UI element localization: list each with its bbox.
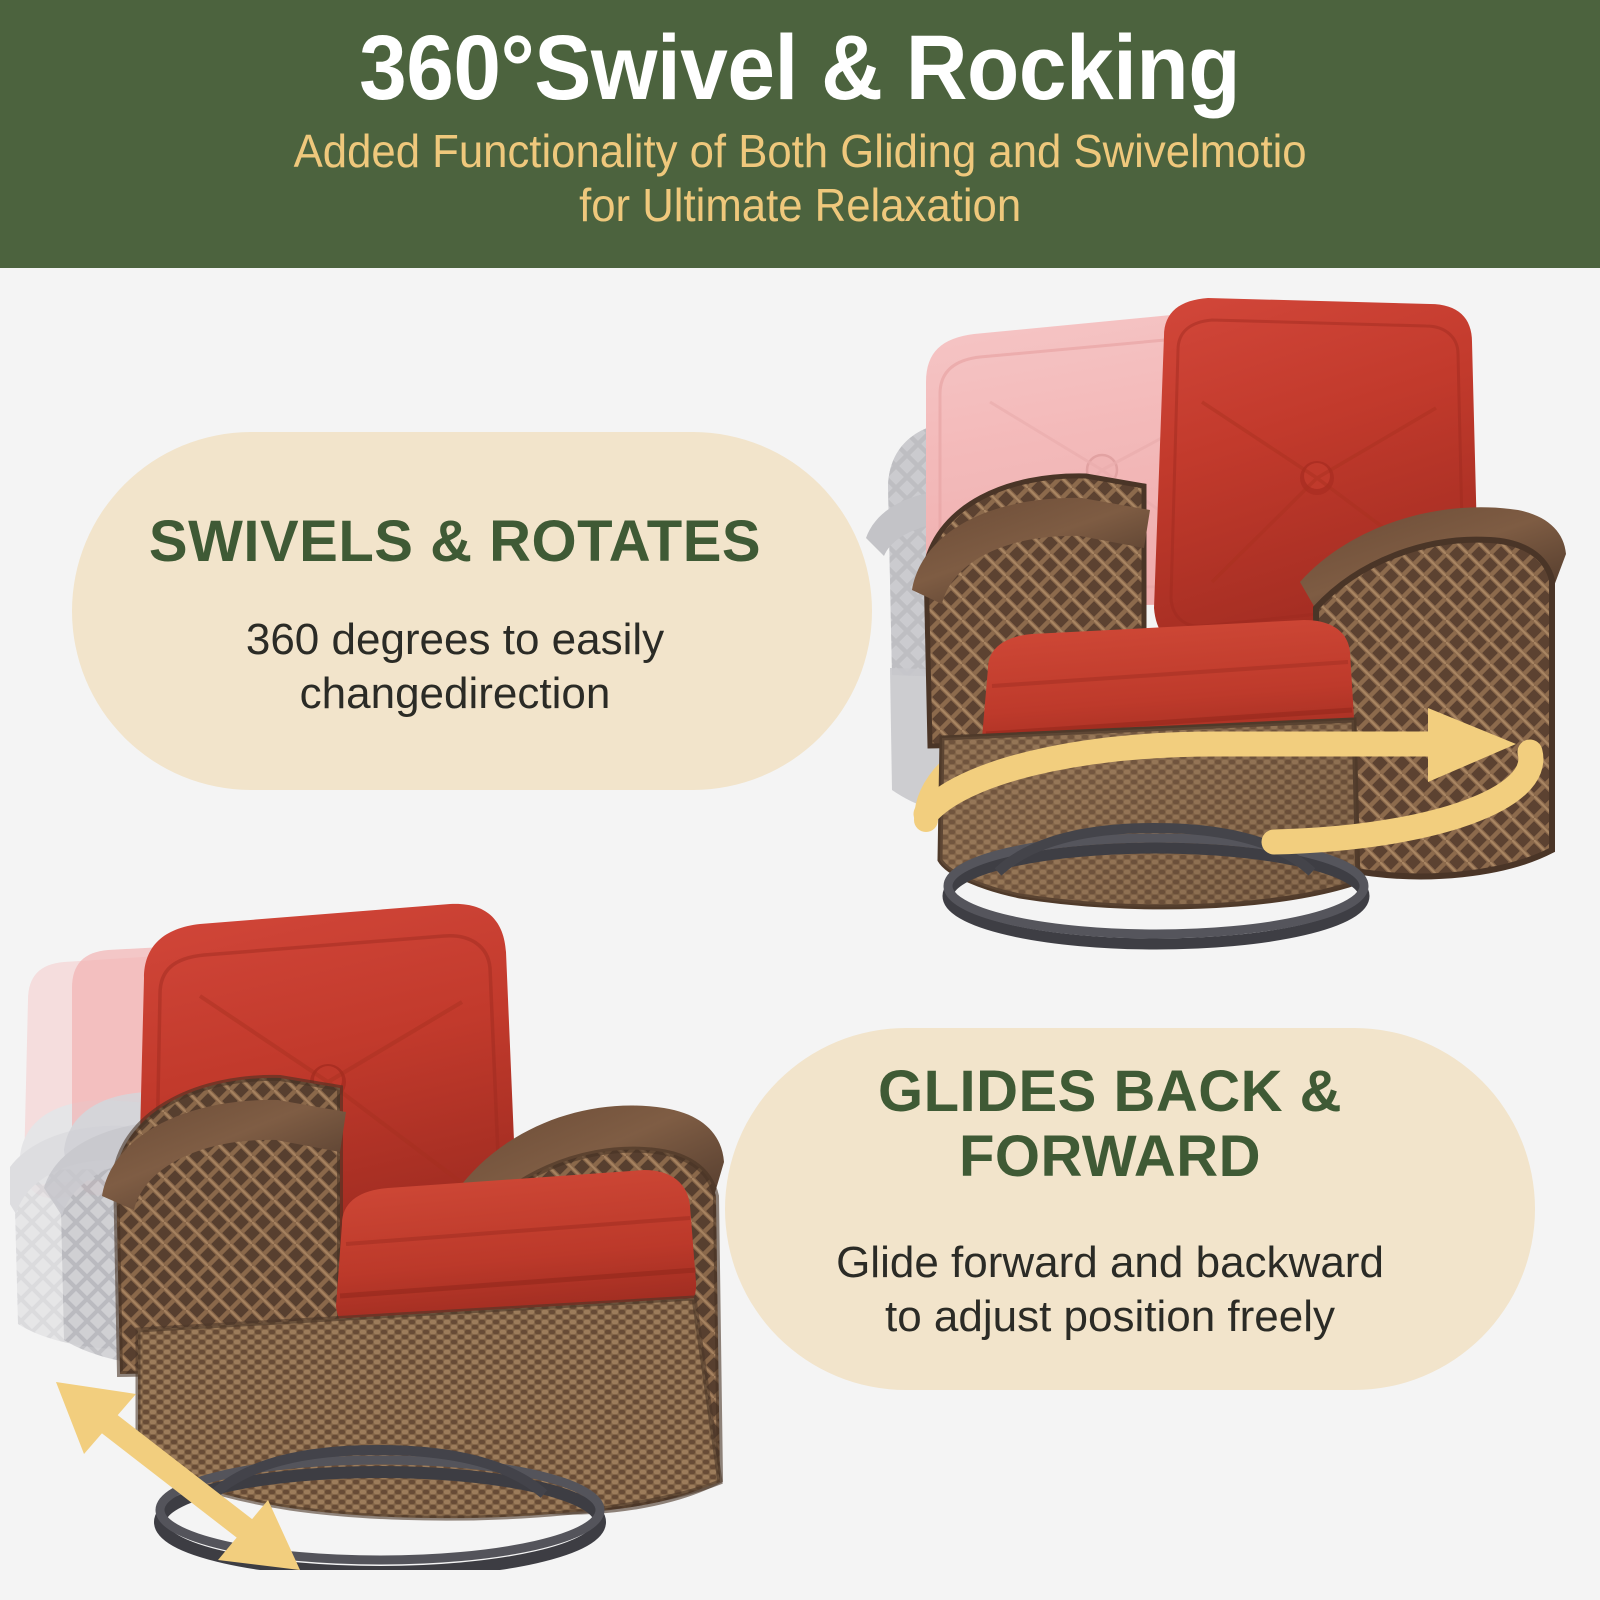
infographic-root: 360°Swivel & Rocking Added Functionality…	[0, 0, 1600, 1600]
glide-feature-body: Glide forward and backward to adjust pos…	[760, 1236, 1460, 1343]
header-banner: 360°Swivel & Rocking Added Functionality…	[0, 0, 1600, 268]
header-subtitle-line-2: for Ultimate Relaxation	[294, 178, 1307, 232]
swivel-body-line-1: 360 degrees to easily	[105, 613, 805, 667]
glide-body-line-2: to adjust position freely	[760, 1290, 1460, 1344]
header-subtitle-line-1: Added Functionality of Both Gliding and …	[294, 124, 1307, 178]
swivel-feature-text: SWIVELS & ROTATES 360 degrees to easily …	[105, 510, 805, 720]
swivel-body-line-2: changedirection	[105, 667, 805, 721]
glide-title-line-1: GLIDES BACK &	[760, 1060, 1460, 1125]
glide-title-line-2: FORWARD	[760, 1125, 1460, 1190]
glide-chair-illustration	[102, 904, 724, 1570]
page-title: 360°Swivel & Rocking	[360, 22, 1241, 116]
glide-feature-title: GLIDES BACK & FORWARD	[760, 1060, 1460, 1190]
glide-chair-scene	[10, 870, 750, 1570]
glide-feature-text: GLIDES BACK & FORWARD Glide forward and …	[760, 1060, 1460, 1343]
swivel-feature-title: SWIVELS & ROTATES	[105, 510, 805, 575]
glide-body-line-1: Glide forward and backward	[760, 1236, 1460, 1290]
header-subtitle: Added Functionality of Both Gliding and …	[294, 124, 1307, 233]
swivel-chair-scene	[830, 290, 1570, 950]
swivel-feature-body: 360 degrees to easily changedirection	[105, 613, 805, 720]
